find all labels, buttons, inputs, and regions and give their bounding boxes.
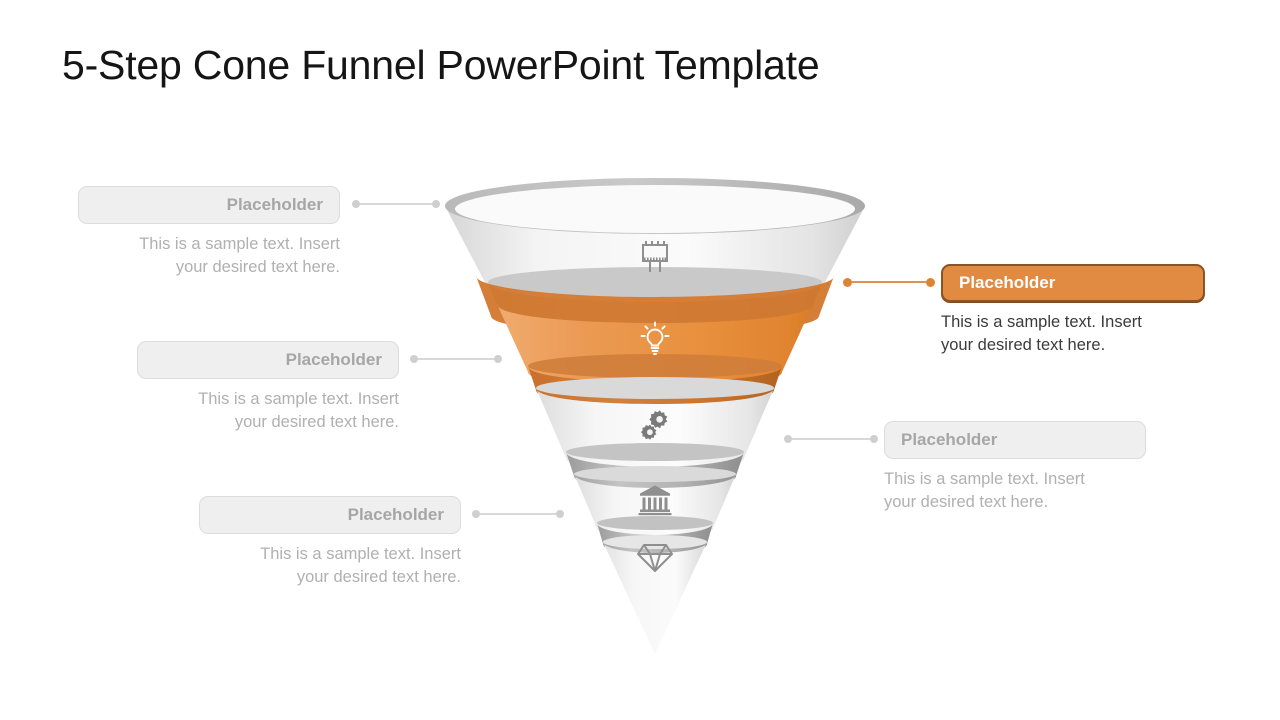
connector-line (360, 203, 432, 205)
connector-dot-end (870, 435, 878, 443)
connector-dot-end (494, 355, 502, 363)
connector-dot-end (432, 200, 440, 208)
callout-step-1[interactable]: Placeholder This is a sample text. Inser… (78, 186, 340, 280)
step-1-description: This is a sample text. Insert your desir… (78, 233, 340, 280)
connector-dot-start (472, 510, 480, 518)
connector-dot-end (926, 278, 935, 287)
step-1-label-chip[interactable]: Placeholder (78, 186, 340, 224)
step-2-label-chip[interactable]: Placeholder (941, 264, 1205, 302)
step-5-label: Placeholder (348, 505, 444, 525)
connector-step-5 (472, 509, 564, 519)
connector-step-1 (352, 199, 440, 209)
connector-dot-start (784, 435, 792, 443)
connector-line (418, 358, 494, 360)
connector-line (852, 281, 926, 283)
connector-dot-start (410, 355, 418, 363)
callout-step-3[interactable]: Placeholder This is a sample text. Inser… (137, 341, 399, 435)
step-4-description: This is a sample text. Insert your desir… (884, 468, 1146, 515)
step-2-description: This is a sample text. Insert your desir… (941, 311, 1205, 358)
connector-step-2 (843, 277, 935, 287)
step-5-description: This is a sample text. Insert your desir… (199, 543, 461, 590)
step-3-label-chip[interactable]: Placeholder (137, 341, 399, 379)
callout-step-5[interactable]: Placeholder This is a sample text. Inser… (199, 496, 461, 590)
connector-dot-start (352, 200, 360, 208)
step-2-label: Placeholder (959, 273, 1055, 293)
connector-line (792, 438, 870, 440)
callout-step-2[interactable]: Placeholder This is a sample text. Inser… (941, 264, 1205, 358)
step-5-label-chip[interactable]: Placeholder (199, 496, 461, 534)
connector-step-4 (784, 434, 878, 444)
step-1-label: Placeholder (227, 195, 323, 215)
connector-step-3 (410, 354, 502, 364)
slide-canvas: Placeholder This is a sample text. Inser… (0, 0, 1280, 720)
step-4-label: Placeholder (901, 430, 997, 450)
connector-dot-end (556, 510, 564, 518)
cone-funnel-diagram (430, 176, 890, 666)
connector-line (480, 513, 556, 515)
connector-dot-start (843, 278, 852, 287)
callout-step-4[interactable]: Placeholder This is a sample text. Inser… (884, 421, 1146, 515)
step-3-description: This is a sample text. Insert your desir… (137, 388, 399, 435)
step-3-label: Placeholder (286, 350, 382, 370)
step-4-label-chip[interactable]: Placeholder (884, 421, 1146, 459)
